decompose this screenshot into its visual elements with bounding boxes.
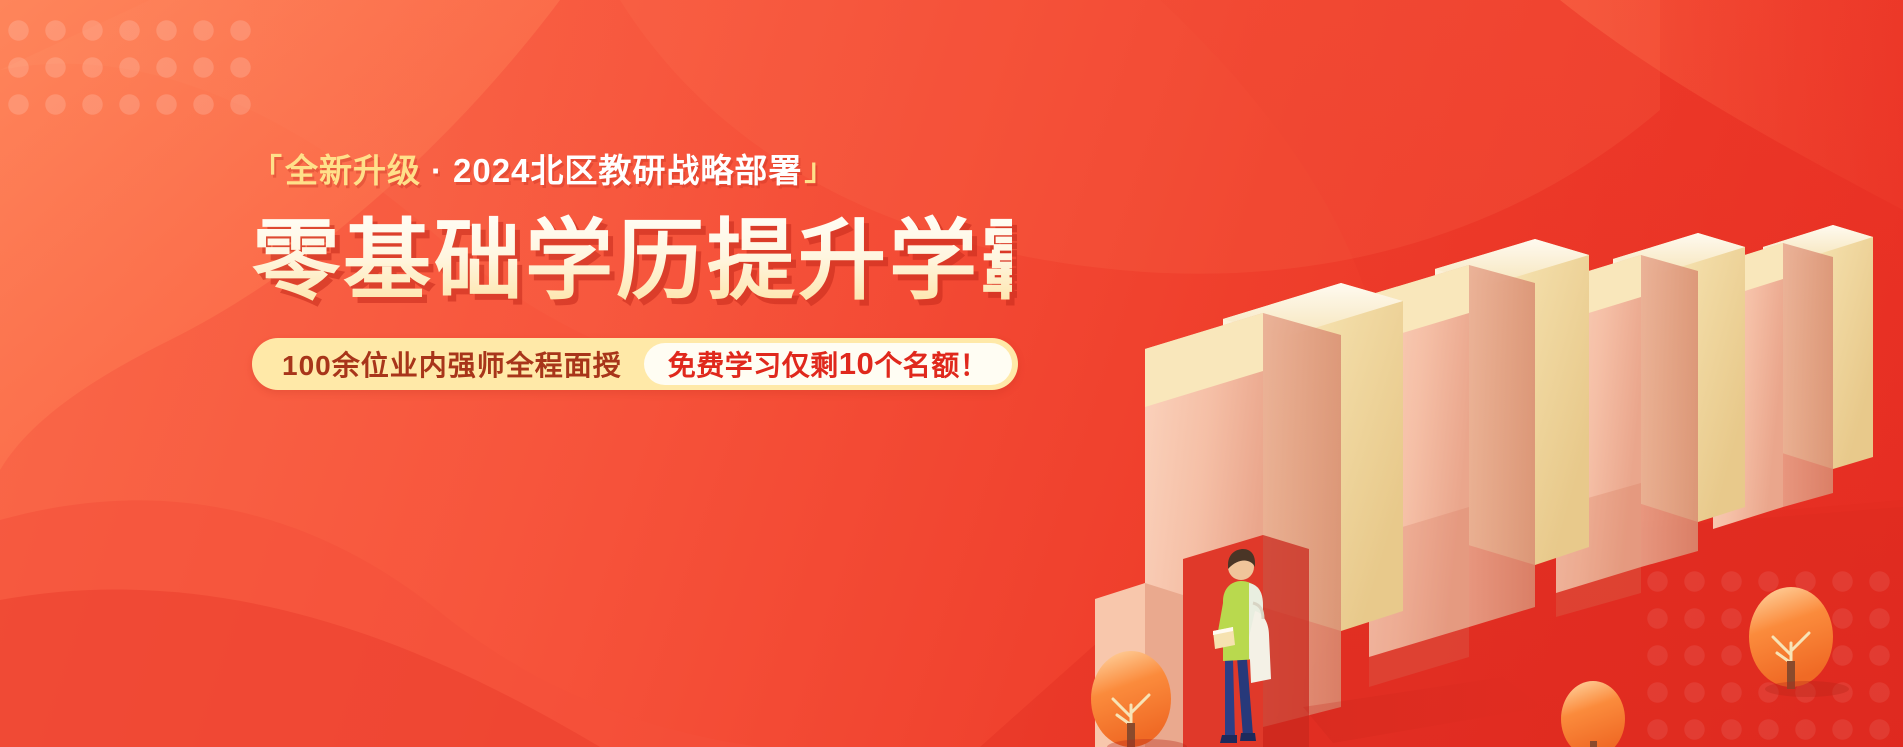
subtitle-rest: 2024北区教研战略部署 [453,150,802,191]
bracket-open-icon: 「 [252,152,283,190]
promo-banner: 「 全新升级 · 2024北区教研战略部署 」 零基础学历提升学霸班 100余位… [0,0,1903,747]
subtitle-highlight: 全新升级 [285,150,421,191]
pill-right-chip: 免费学习仅剩10个名额！ [644,343,1013,385]
offer-pill: 100余位业内强师全程面授 免费学习仅剩10个名额！ [252,338,1018,390]
dot-grid-top-left [0,6,254,128]
book-archway-illustration [1073,207,1903,747]
pill-right-number: 10 [839,346,874,382]
banner-copy: 「 全新升级 · 2024北区教研战略部署 」 零基础学历提升学霸班 100余位… [252,150,1012,390]
pill-right-suffix: 个名额！ [874,344,988,384]
pill-right-prefix: 免费学习仅剩 [668,344,839,384]
bracket-close-icon: 」 [804,152,835,190]
subtitle-separator: · [421,150,453,191]
banner-subtitle: 「 全新升级 · 2024北区教研战略部署 」 [252,150,1012,191]
page-title: 零基础学历提升学霸班 [252,213,1012,308]
pill-left-label: 100余位业内强师全程面授 [282,344,644,384]
